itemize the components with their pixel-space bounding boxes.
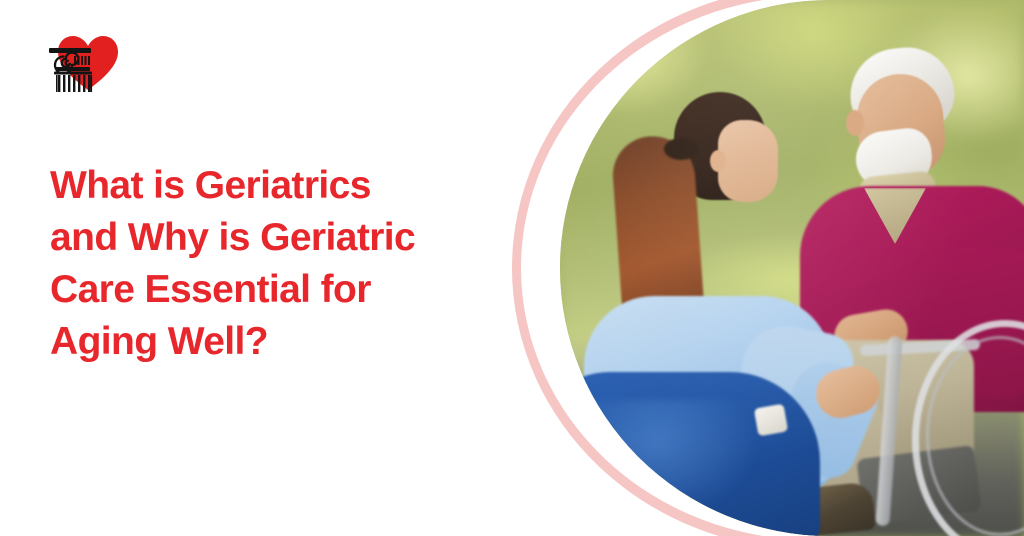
page-title: What is Geriatrics and Why is Geriatric … <box>50 160 520 368</box>
caregiver-badge <box>754 404 788 437</box>
senior-man-ear <box>846 110 864 136</box>
caregiver-ear <box>710 150 726 172</box>
headline-line-4: Aging Well? <box>50 316 520 368</box>
ionic-column-heart-logo[interactable] <box>44 26 120 96</box>
headline-line-2: and Why is Geriatric <box>50 212 520 264</box>
blog-header-banner: What is Geriatrics and Why is Geriatric … <box>0 0 1024 536</box>
headline-line-3: Care Essential for <box>50 264 520 316</box>
caregiver-face <box>718 120 778 202</box>
logo-svg <box>44 26 120 96</box>
hero-photo-panel <box>560 0 1024 536</box>
headline-line-1: What is Geriatrics <box>50 160 520 212</box>
caregiver-and-senior-in-wheelchair-photo <box>560 0 1024 536</box>
caregiver-jeans-highlight <box>590 400 760 520</box>
caregiver-hair-tie <box>664 138 698 160</box>
